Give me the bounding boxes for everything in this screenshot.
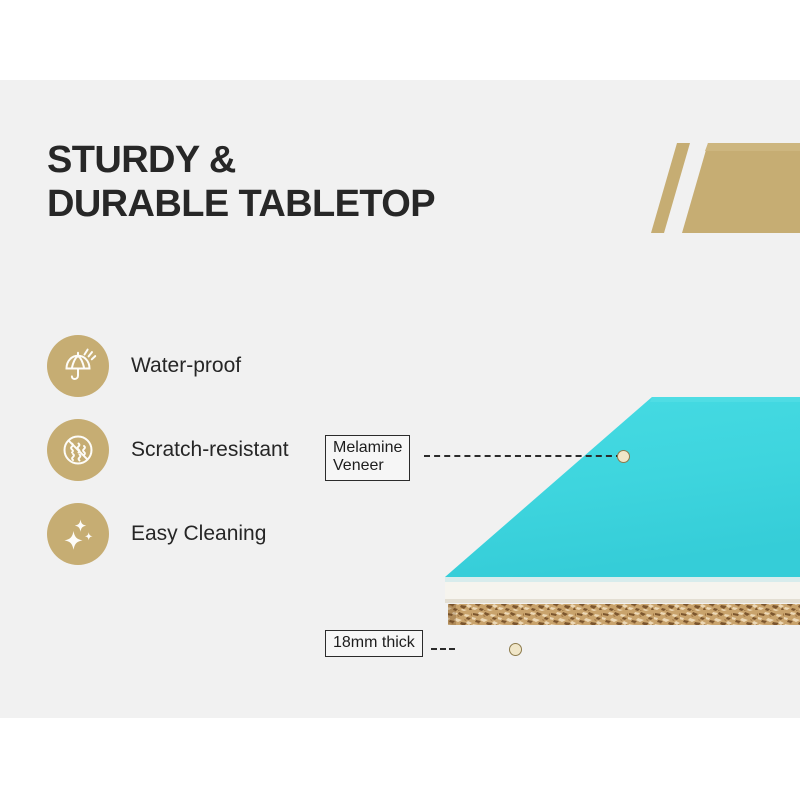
gold-stripe-thin	[651, 143, 690, 233]
feature-item-scratch-resistant: Scratch-resistant	[47, 419, 289, 481]
leader-line-melamine	[424, 455, 622, 457]
feature-label: Easy Cleaning	[131, 522, 266, 546]
teal-top-surface	[445, 397, 800, 577]
no-scratch-icon	[47, 419, 109, 481]
callout-dot-melamine	[617, 450, 630, 463]
sparkles-icon	[47, 503, 109, 565]
callout-melamine-veneer: Melamine Veneer	[325, 435, 410, 481]
infographic-canvas: STURDY & DURABLE TABLETOP	[0, 0, 800, 800]
white-layer-shadow	[445, 599, 800, 603]
feature-list: Water-proof	[47, 335, 289, 587]
feature-label: Scratch-resistant	[131, 438, 289, 462]
callout-dot-thickness	[509, 643, 522, 656]
tabletop-slab-illustration	[420, 305, 800, 625]
feature-label: Water-proof	[131, 354, 241, 378]
particleboard-left-shade	[448, 604, 456, 625]
page-title: STURDY & DURABLE TABLETOP	[47, 138, 435, 227]
gold-decoration	[650, 143, 800, 233]
callout-thickness: 18mm thick	[325, 630, 423, 657]
feature-item-water-proof: Water-proof	[47, 335, 289, 397]
teal-top-highlight	[650, 397, 800, 402]
content-panel: STURDY & DURABLE TABLETOP	[0, 80, 800, 718]
gold-block	[682, 143, 800, 233]
leader-line-thickness	[431, 648, 455, 650]
gold-block-highlight	[705, 143, 800, 151]
feature-item-easy-cleaning: Easy Cleaning	[47, 503, 289, 565]
umbrella-rain-icon	[47, 335, 109, 397]
